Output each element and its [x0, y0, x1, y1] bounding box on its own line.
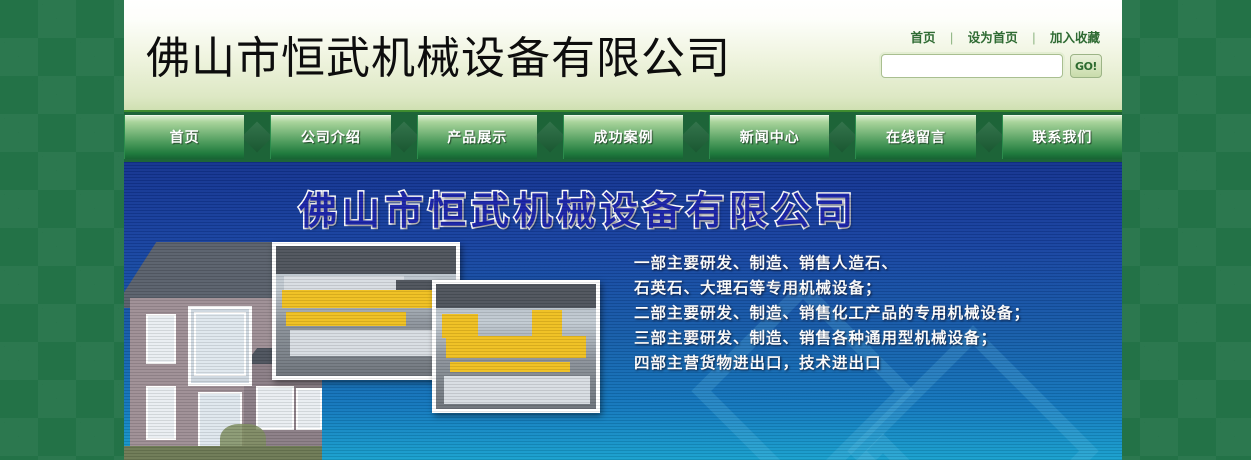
- house-ground: [124, 446, 322, 460]
- nav-item-label: 在线留言: [886, 127, 946, 147]
- search-area: GO!: [881, 54, 1102, 78]
- main-navigation: 首页 公司介绍 产品展示 成功案例 新闻中心 在线留言: [124, 112, 1122, 162]
- hero-banner: 佛山市恒武机械设备有限公司 一部主要研发、制造、销售人造石、 石英石、大理石等专…: [124, 162, 1122, 460]
- nav-separator-diamond-icon: [537, 112, 563, 162]
- house-window: [296, 388, 322, 430]
- content-column: 佛山市恒武机械设备有限公司 首页 | 设为首页 | 加入收藏 GO! 首页 公司…: [124, 0, 1122, 460]
- nav-item-news[interactable]: 新闻中心: [709, 115, 829, 159]
- nav-item-cases[interactable]: 成功案例: [563, 115, 683, 159]
- nav-item-label: 公司介绍: [301, 127, 361, 147]
- machine-yellow-beam: [286, 312, 406, 326]
- nav-item-message-board[interactable]: 在线留言: [855, 115, 975, 159]
- nav-separator-diamond-icon: [829, 112, 855, 162]
- nav-item-company-intro[interactable]: 公司介绍: [270, 115, 390, 159]
- banner-description: 一部主要研发、制造、销售人造石、 石英石、大理石等专用机械设备； 二部主要研发、…: [634, 250, 1030, 375]
- nav-separator-diamond-icon: [244, 112, 270, 162]
- banner-description-line: 石英石、大理石等专用机械设备；: [634, 275, 1030, 300]
- factory-ceiling: [276, 246, 456, 274]
- house-window: [146, 314, 176, 364]
- machine-base: [444, 376, 590, 404]
- machine-yellow-beam: [282, 290, 432, 308]
- nav-item-label: 首页: [170, 127, 200, 147]
- page-title: 佛山市恒武机械设备有限公司: [146, 22, 731, 86]
- nav-item-products[interactable]: 产品展示: [417, 115, 537, 159]
- banner-description-line: 三部主要研发、制造、销售各种通用型机械设备；: [634, 325, 1030, 350]
- search-go-button[interactable]: GO!: [1070, 54, 1102, 78]
- top-link-set-homepage[interactable]: 设为首页: [968, 31, 1018, 45]
- house-window: [194, 312, 246, 376]
- top-link-separator-2: |: [1032, 31, 1035, 45]
- nav-item-label: 新闻中心: [740, 127, 800, 147]
- machine-base: [290, 330, 438, 356]
- machine-yellow-post: [442, 314, 478, 338]
- nav-separator-diamond-icon: [976, 112, 1002, 162]
- nav-item-contact[interactable]: 联系我们: [1002, 115, 1122, 159]
- top-links: 首页 | 设为首页 | 加入收藏: [911, 27, 1100, 46]
- banner-description-line: 四部主营货物进出口，技术进出口: [634, 350, 1030, 375]
- nav-item-label: 产品展示: [447, 127, 507, 147]
- nav-separator-diamond-icon: [683, 112, 709, 162]
- machine-yellow-post: [532, 310, 562, 336]
- top-link-separator-1: |: [950, 31, 953, 45]
- top-link-add-favorite[interactable]: 加入收藏: [1050, 31, 1100, 45]
- nav-item-label: 成功案例: [593, 127, 653, 147]
- banner-title: 佛山市恒武机械设备有限公司: [299, 180, 858, 235]
- nav-separator-diamond-icon: [391, 112, 417, 162]
- search-input[interactable]: [881, 54, 1063, 78]
- machine-photo-2: [432, 280, 600, 413]
- machine-photo-1-art: [276, 246, 456, 376]
- machine-yellow-beam: [446, 336, 586, 358]
- banner-description-line: 二部主要研发、制造、销售化工产品的专用机械设备；: [634, 300, 1030, 325]
- factory-background: [436, 284, 596, 308]
- banner-description-line: 一部主要研发、制造、销售人造石、: [634, 250, 1030, 275]
- page-root: 佛山市恒武机械设备有限公司 首页 | 设为首页 | 加入收藏 GO! 首页 公司…: [0, 0, 1251, 460]
- nav-item-home[interactable]: 首页: [124, 115, 244, 159]
- house-window: [256, 386, 294, 430]
- nav-item-label: 联系我们: [1032, 127, 1092, 147]
- top-link-home[interactable]: 首页: [911, 31, 936, 45]
- machine-photo-2-art: [436, 284, 596, 409]
- machine-yellow-rail: [450, 362, 570, 372]
- site-header: 佛山市恒武机械设备有限公司 首页 | 设为首页 | 加入收藏 GO!: [124, 0, 1122, 112]
- house-window: [146, 386, 176, 440]
